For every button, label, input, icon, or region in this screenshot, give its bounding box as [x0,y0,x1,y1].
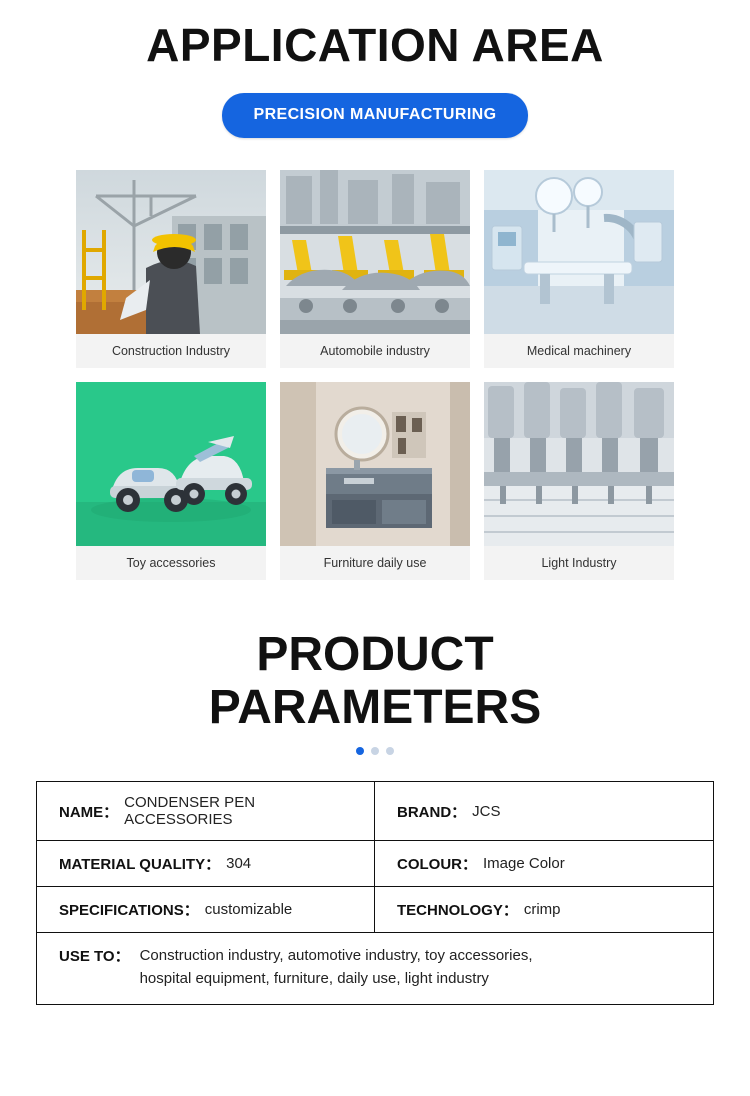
spec-cell-specifications: SPECIFICATIONS： customizable [37,887,375,932]
spec-table: NAME： CONDENSER PEN ACCESSORIES BRAND： J… [36,781,714,1005]
application-caption: Furniture daily use [280,546,470,580]
spec-cell-brand: BRAND： JCS [375,782,713,840]
spec-value: CONDENSER PEN ACCESSORIES [124,794,364,828]
spec-label: NAME： [59,801,118,822]
parameters-title-line1: PRODUCT [0,628,750,682]
precision-manufacturing-badge: PRECISION MANUFACTURING [222,93,529,138]
badge-row: PRECISION MANUFACTURING [0,93,750,138]
spec-label: MATERIAL QUALITY： [59,853,220,874]
spec-cell-use-to: USE TO： Construction industry, automotiv… [37,933,713,1004]
application-card[interactable]: Medical machinery [484,170,674,368]
carousel-dot[interactable] [386,747,394,755]
spec-cell-technology: TECHNOLOGY： crimp [375,887,713,932]
use-to-line1: Construction industry, automotive indust… [140,947,533,964]
spec-value: Image Color [483,855,565,872]
spec-value: customizable [205,901,293,918]
application-caption: Automobile industry [280,334,470,368]
product-parameters-title: PRODUCT PARAMETERS [0,628,750,736]
spec-value: JCS [472,803,500,820]
embroidery-machines-photo [484,382,674,546]
toy-cars-green-background-photo [76,382,266,546]
application-card[interactable]: Toy accessories [76,382,266,580]
application-caption: Toy accessories [76,546,266,580]
page-title: APPLICATION AREA [0,0,750,71]
table-row: USE TO： Construction industry, automotiv… [37,933,713,1004]
table-row: MATERIAL QUALITY： 304 COLOUR： Image Colo… [37,841,713,887]
spec-value: 304 [226,855,251,872]
application-card[interactable]: Furniture daily use [280,382,470,580]
spec-label: USE TO： [59,945,130,966]
spec-value-use-to: Construction industry, automotive indust… [140,945,533,990]
automotive-robot-assembly-line-photo [280,170,470,334]
application-caption: Construction Industry [76,334,266,368]
application-caption: Light Industry [484,546,674,580]
application-card[interactable]: Automobile industry [280,170,470,368]
parameters-title-line2: PARAMETERS [0,681,750,735]
spec-value: crimp [524,901,561,918]
page-root: APPLICATION AREA PRECISION MANUFACTURING [0,0,750,1096]
spec-cell-material: MATERIAL QUALITY： 304 [37,841,375,886]
spec-cell-name: NAME： CONDENSER PEN ACCESSORIES [37,782,375,840]
spec-label: BRAND： [397,801,466,822]
carousel-dots [0,747,750,755]
application-card[interactable]: Construction Industry [76,170,266,368]
application-caption: Medical machinery [484,334,674,368]
bathroom-vanity-mirror-photo [280,382,470,546]
application-card[interactable]: Light Industry [484,382,674,580]
spec-label: SPECIFICATIONS： [59,899,199,920]
carousel-dot[interactable] [371,747,379,755]
spec-label: TECHNOLOGY： [397,899,518,920]
spec-label: COLOUR： [397,853,477,874]
use-to-line2: hospital equipment, furniture, daily use… [140,970,489,987]
application-grid: Construction Industry [0,170,750,580]
table-row: NAME： CONDENSER PEN ACCESSORIES BRAND： J… [37,782,713,841]
table-row: SPECIFICATIONS： customizable TECHNOLOGY：… [37,887,713,933]
carousel-dot-active[interactable] [356,747,364,755]
hospital-operating-room-photo [484,170,674,334]
construction-worker-crane-photo [76,170,266,334]
spec-cell-colour: COLOUR： Image Color [375,841,713,886]
